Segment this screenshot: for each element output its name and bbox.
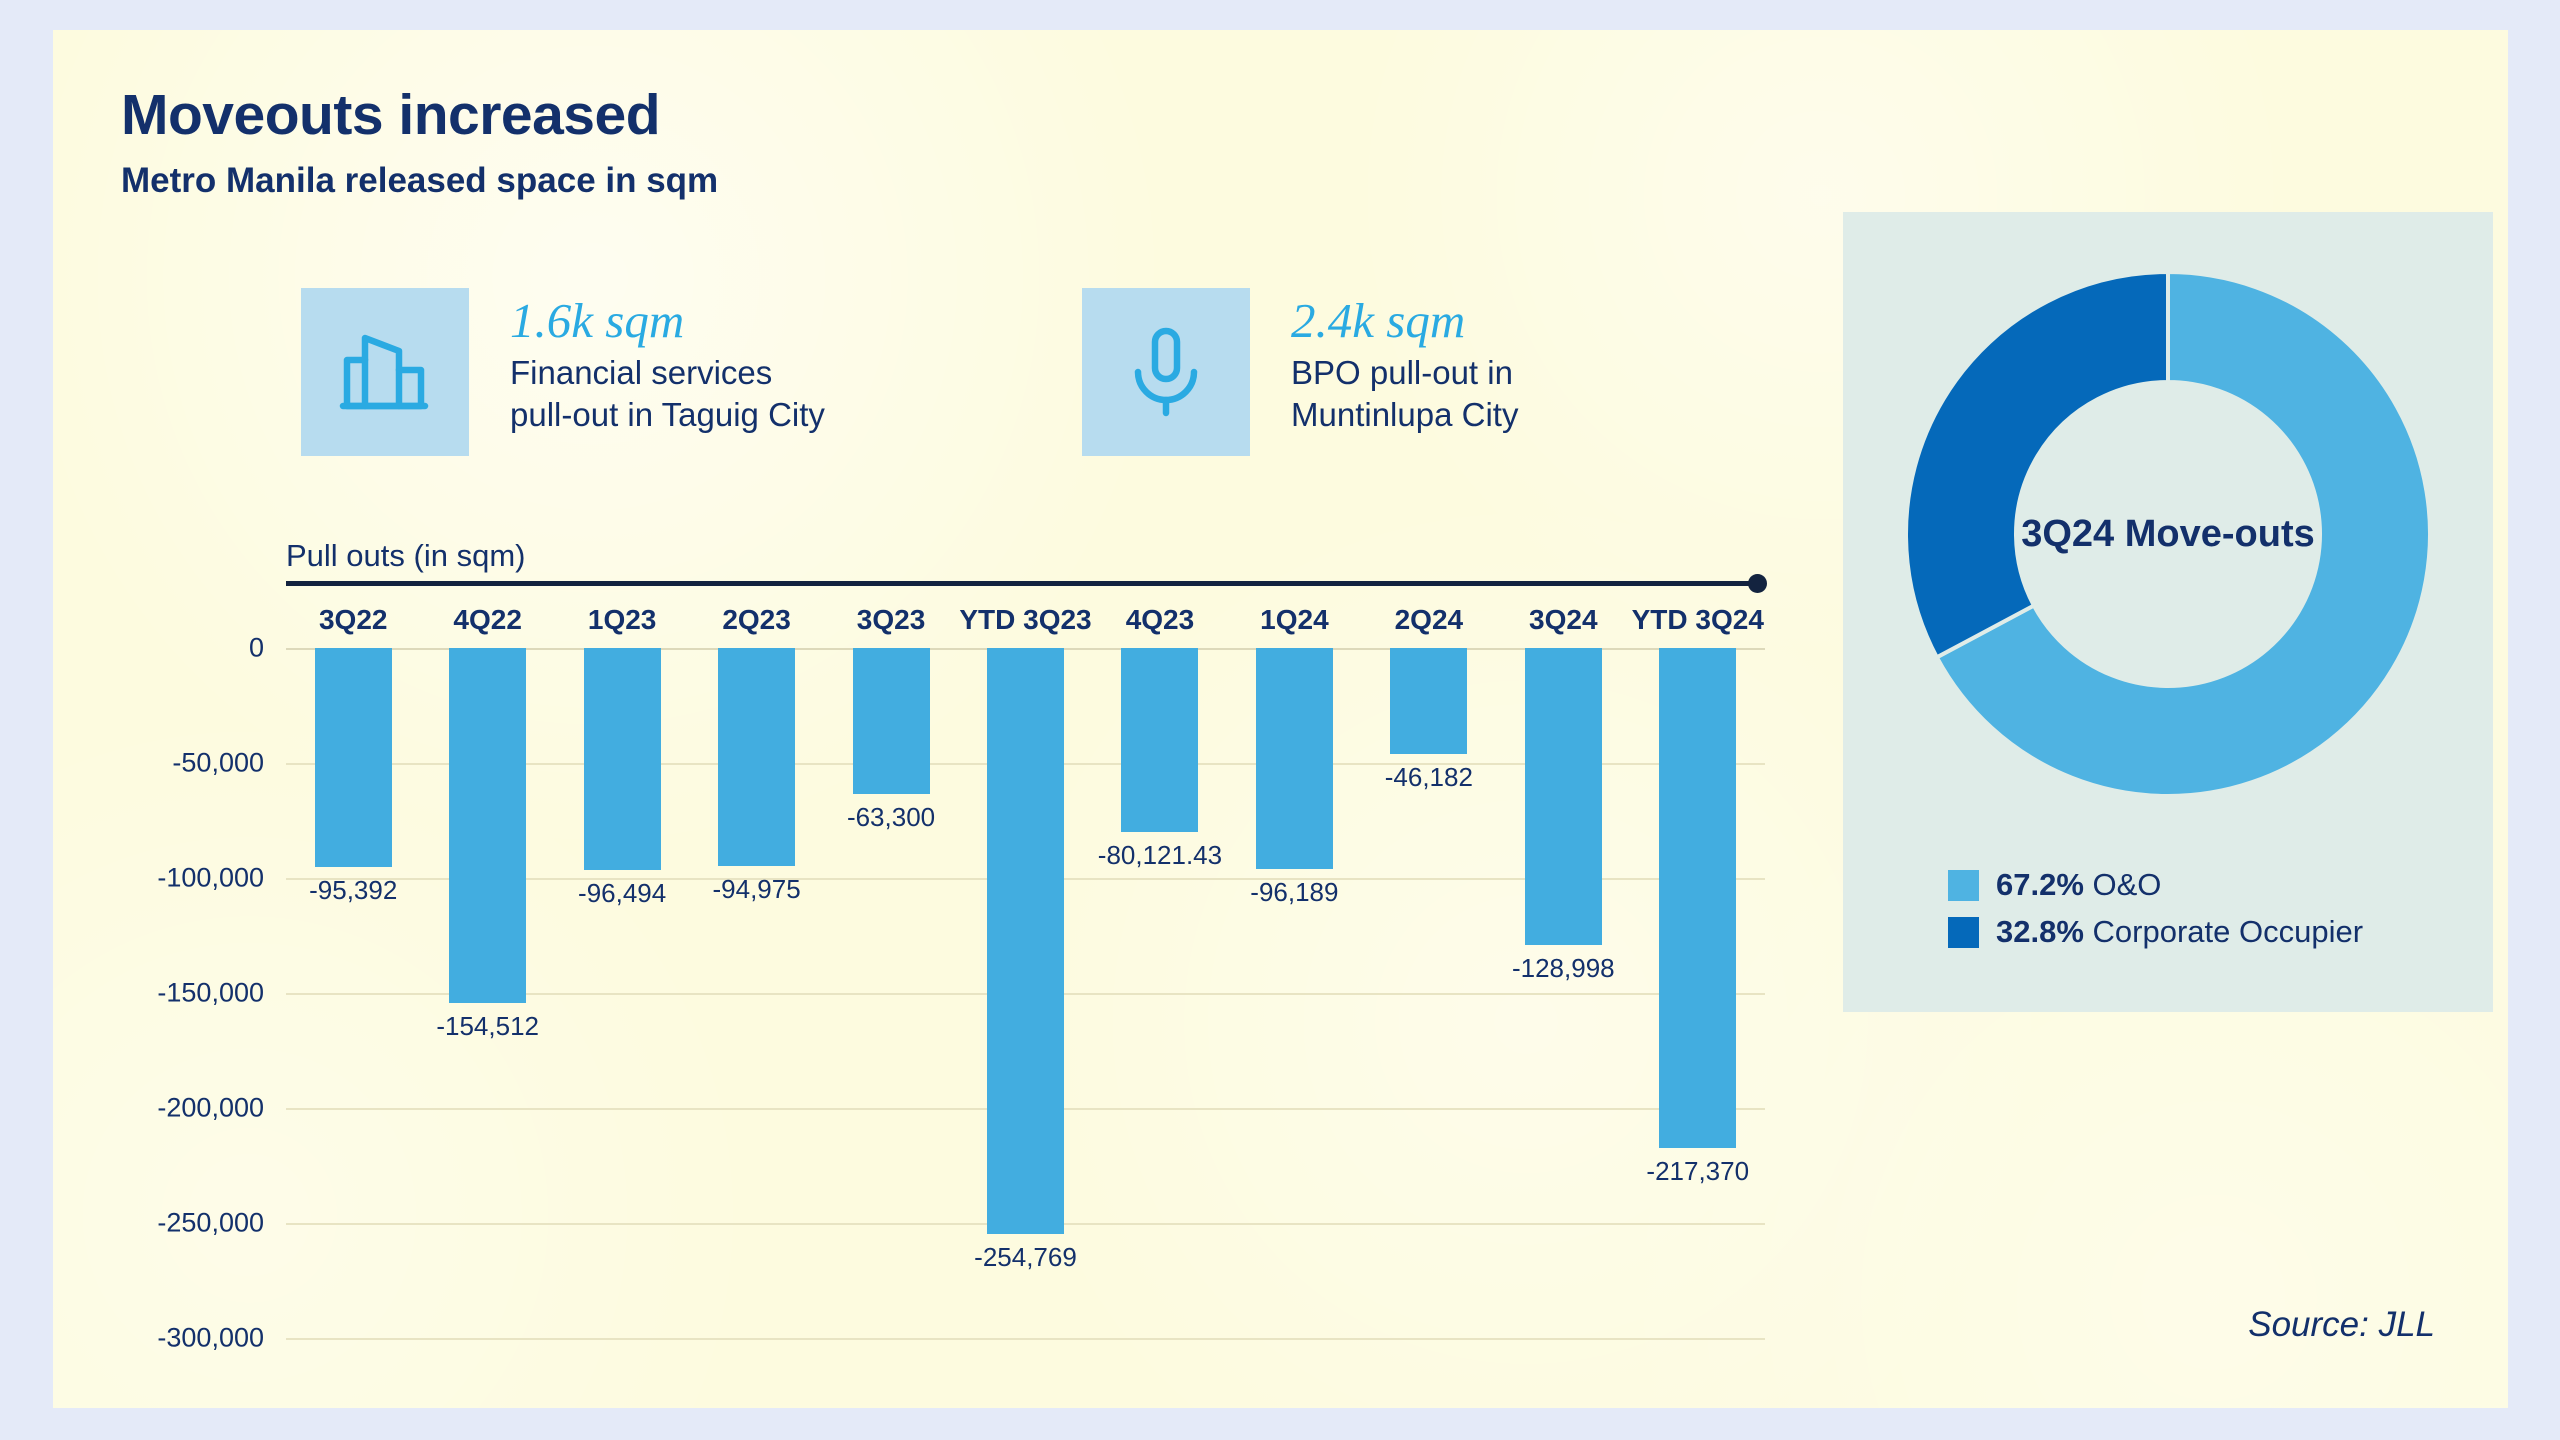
bar-value-label: -95,392 [286,875,420,906]
x-axis-tick-label: 1Q24 [1227,604,1361,636]
infographic-canvas: Moveouts increased Metro Manila released… [0,0,2560,1440]
y-axis-tick-label: -50,000 [172,748,264,779]
legend-percent: 32.8% [1996,914,2084,949]
infographic-card: Moveouts increased Metro Manila released… [53,30,2508,1408]
y-axis-tick-label: 0 [249,633,264,664]
legend-item: 32.8% Corporate Occupier [1948,914,2363,950]
bar-value-label: -217,370 [1631,1156,1765,1187]
legend-item: 67.2% O&O [1948,867,2363,903]
bar [1525,648,1602,945]
legend-label: 67.2% O&O [1996,867,2161,903]
legend-swatch-icon [1948,917,1979,948]
x-axis-tick-label: YTD 3Q23 [958,604,1092,636]
y-axis-tick-label: -200,000 [157,1093,264,1124]
bar [1659,648,1736,1148]
bar [1256,648,1333,869]
bar-value-label: -96,189 [1227,877,1361,908]
legend-swatch-icon [1948,870,1979,901]
bar-value-label: -63,300 [824,802,958,833]
chart-plot-area: 0-50,000-100,000-150,000-200,000-250,000… [286,648,1765,1338]
donut-chart: 3Q24 Move-outs [1878,244,2458,824]
bar-value-label: -46,182 [1362,762,1496,793]
bar [987,648,1064,1234]
donut-slice-corporate-occupier [1906,272,2168,657]
x-axis-tick-label: YTD 3Q24 [1631,604,1765,636]
bar-value-label: -254,769 [958,1242,1092,1273]
x-axis-tick-label: 2Q23 [689,604,823,636]
y-axis-tick-label: -150,000 [157,978,264,1009]
bar-value-label: -154,512 [420,1011,554,1042]
x-axis-tick-label: 4Q22 [420,604,554,636]
chart-top-rule [286,581,1758,586]
bar-value-label: -128,998 [1496,953,1630,984]
legend-percent: 67.2% [1996,867,2084,902]
gridline [286,1338,1765,1340]
y-axis-tick-label: -100,000 [157,863,264,894]
source-credit: Source: JLL [2248,1305,2435,1345]
bar [1390,648,1467,754]
donut-svg [1878,244,2458,824]
bar [315,648,392,867]
y-axis-tick-label: -250,000 [157,1208,264,1239]
bar-value-label: -96,494 [555,878,689,909]
bar [1121,648,1198,832]
x-axis-tick-label: 3Q22 [286,604,420,636]
x-axis-tick-label: 4Q23 [1093,604,1227,636]
y-axis-tick-label: -300,000 [157,1323,264,1354]
chart-axis-caption: Pull outs (in sqm) [286,538,525,574]
chart-rule-end-dot [1748,574,1767,593]
donut-chart-panel: 3Q24 Move-outs 67.2% O&O32.8% Corporate … [1843,212,2493,1012]
x-axis-tick-label: 1Q23 [555,604,689,636]
legend-label: 32.8% Corporate Occupier [1996,914,2363,950]
x-axis-tick-label: 3Q24 [1496,604,1630,636]
x-axis-tick-label: 2Q24 [1362,604,1496,636]
bar-value-label: -94,975 [689,874,823,905]
bar [853,648,930,794]
bar-chart: Pull outs (in sqm) 0-50,000-100,000-150,… [53,30,1813,1408]
donut-legend: 67.2% O&O32.8% Corporate Occupier [1948,867,2363,961]
bar [718,648,795,866]
bar-value-label: -80,121.43 [1093,840,1227,871]
bar [584,648,661,870]
bar [449,648,526,1003]
x-axis-tick-label: 3Q23 [824,604,958,636]
